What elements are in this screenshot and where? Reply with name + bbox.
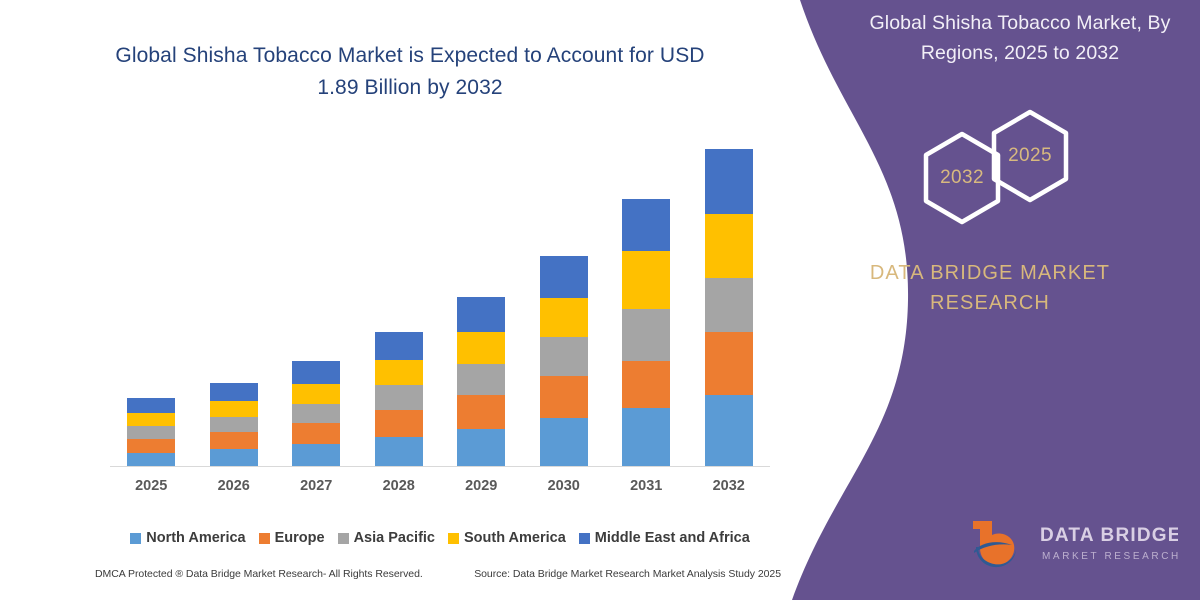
x-axis-label-2031: 2031 xyxy=(611,478,681,494)
legend-item-asia-pacific[interactable]: Asia Pacific xyxy=(338,530,435,546)
bar-segment xyxy=(705,278,753,332)
bar-segment xyxy=(622,309,670,362)
bar-segment xyxy=(292,423,340,444)
panel-title: Global Shisha Tobacco Market, By Regions… xyxy=(850,8,1190,68)
bar-segment xyxy=(375,360,423,386)
legend-item-europe[interactable]: Europe xyxy=(259,530,325,546)
page-title-line-2: 1.89 Billion by 2032 xyxy=(60,72,760,104)
bar-segment xyxy=(540,298,588,337)
bar-segment xyxy=(210,383,258,401)
bar-segment xyxy=(622,199,670,251)
bar-segment xyxy=(292,361,340,383)
bar-segment xyxy=(375,437,423,467)
bar-segment xyxy=(127,439,175,453)
bar-segment xyxy=(457,297,505,332)
bar-segment xyxy=(705,332,753,396)
footer-source: Source: Data Bridge Market Research Mark… xyxy=(474,568,781,580)
hexagon-badges: 2032 2025 xyxy=(895,108,1095,228)
x-axis-label-2032: 2032 xyxy=(694,478,764,494)
brand-name-line-2: RESEARCH xyxy=(820,288,1160,318)
bar-segment xyxy=(622,251,670,309)
bar-column-2032 xyxy=(705,149,753,467)
bar-segment xyxy=(705,149,753,214)
x-axis-label-2029: 2029 xyxy=(446,478,516,494)
legend-item-north-america[interactable]: North America xyxy=(130,530,245,546)
bar-column-2030 xyxy=(540,256,588,467)
bar-segment xyxy=(457,364,505,395)
x-axis-label-2028: 2028 xyxy=(364,478,434,494)
bar-segment xyxy=(127,453,175,467)
bar-segment xyxy=(457,332,505,364)
legend-swatch-icon xyxy=(259,533,270,544)
bar-segment xyxy=(457,429,505,467)
legend-swatch-icon xyxy=(448,533,459,544)
x-axis-line xyxy=(110,466,770,467)
panel-title-line-2: Regions, 2025 to 2032 xyxy=(850,38,1190,68)
bar-segment xyxy=(457,395,505,429)
hexagon-start-year-label: 2025 xyxy=(987,108,1073,204)
x-axis-label-2025: 2025 xyxy=(116,478,186,494)
bar-column-2027 xyxy=(292,361,340,467)
bar-segment xyxy=(622,408,670,467)
bar-segment xyxy=(210,449,258,467)
legend-label: Europe xyxy=(275,530,325,546)
page-title-line-1: Global Shisha Tobacco Market is Expected… xyxy=(60,40,760,72)
panel-content: Global Shisha Tobacco Market, By Regions… xyxy=(780,0,1200,600)
bar-segment xyxy=(622,361,670,408)
bar-segment xyxy=(540,376,588,419)
brand-name: DATA BRIDGE MARKET RESEARCH xyxy=(820,258,1160,318)
bar-segment xyxy=(292,404,340,423)
bar-segment xyxy=(127,413,175,427)
x-axis-label-2027: 2027 xyxy=(281,478,351,494)
x-axis-label-2026: 2026 xyxy=(199,478,269,494)
legend-label: North America xyxy=(146,530,245,546)
bar-segment xyxy=(375,385,423,410)
chart-legend: North AmericaEuropeAsia PacificSouth Ame… xyxy=(110,530,770,546)
bar-column-2031 xyxy=(622,199,670,467)
bar-column-2025 xyxy=(127,398,175,467)
stacked-bar-chart xyxy=(110,145,770,467)
logo-text-primary: DATA BRIDGE xyxy=(1040,525,1178,546)
infographic-canvas: Global Shisha Tobacco Market is Expected… xyxy=(0,0,1200,600)
bar-segment xyxy=(540,256,588,298)
bar-column-2028 xyxy=(375,332,423,467)
logo-mark-icon xyxy=(973,521,1016,567)
data-bridge-logo: DATA BRIDGE MARKET RESEARCH xyxy=(968,515,1178,573)
brand-name-line-1: DATA BRIDGE MARKET xyxy=(820,258,1160,288)
bar-segment xyxy=(210,432,258,449)
bar-segment xyxy=(210,401,258,417)
bar-segment xyxy=(292,444,340,467)
legend-swatch-icon xyxy=(338,533,349,544)
bar-segment xyxy=(292,384,340,404)
bar-segment xyxy=(705,395,753,467)
legend-label: Asia Pacific xyxy=(354,530,435,546)
x-axis-tick-labels: 20252026202720282029203020312032 xyxy=(110,478,770,500)
legend-item-south-america[interactable]: South America xyxy=(448,530,566,546)
logo-text-secondary: MARKET RESEARCH xyxy=(1042,551,1178,562)
bar-segment xyxy=(705,214,753,278)
bar-segment xyxy=(540,418,588,467)
bar-segment xyxy=(375,332,423,360)
bar-segment xyxy=(127,398,175,412)
bar-segment xyxy=(540,337,588,376)
bar-column-2029 xyxy=(457,297,505,467)
bar-segment xyxy=(210,417,258,432)
legend-swatch-icon xyxy=(579,533,590,544)
hexagon-badge-start-year: 2025 xyxy=(987,108,1073,204)
footer-copyright: DMCA Protected ® Data Bridge Market Rese… xyxy=(95,568,423,580)
panel-title-line-1: Global Shisha Tobacco Market, By xyxy=(850,8,1190,38)
legend-item-middle-east-and-africa[interactable]: Middle East and Africa xyxy=(579,530,750,546)
bar-segment xyxy=(375,410,423,437)
legend-label: South America xyxy=(464,530,566,546)
legend-label: Middle East and Africa xyxy=(595,530,750,546)
bar-column-2026 xyxy=(210,383,258,467)
bar-segment xyxy=(127,426,175,439)
page-title: Global Shisha Tobacco Market is Expected… xyxy=(60,40,760,104)
x-axis-label-2030: 2030 xyxy=(529,478,599,494)
legend-swatch-icon xyxy=(130,533,141,544)
footer: DMCA Protected ® Data Bridge Market Rese… xyxy=(95,568,785,580)
